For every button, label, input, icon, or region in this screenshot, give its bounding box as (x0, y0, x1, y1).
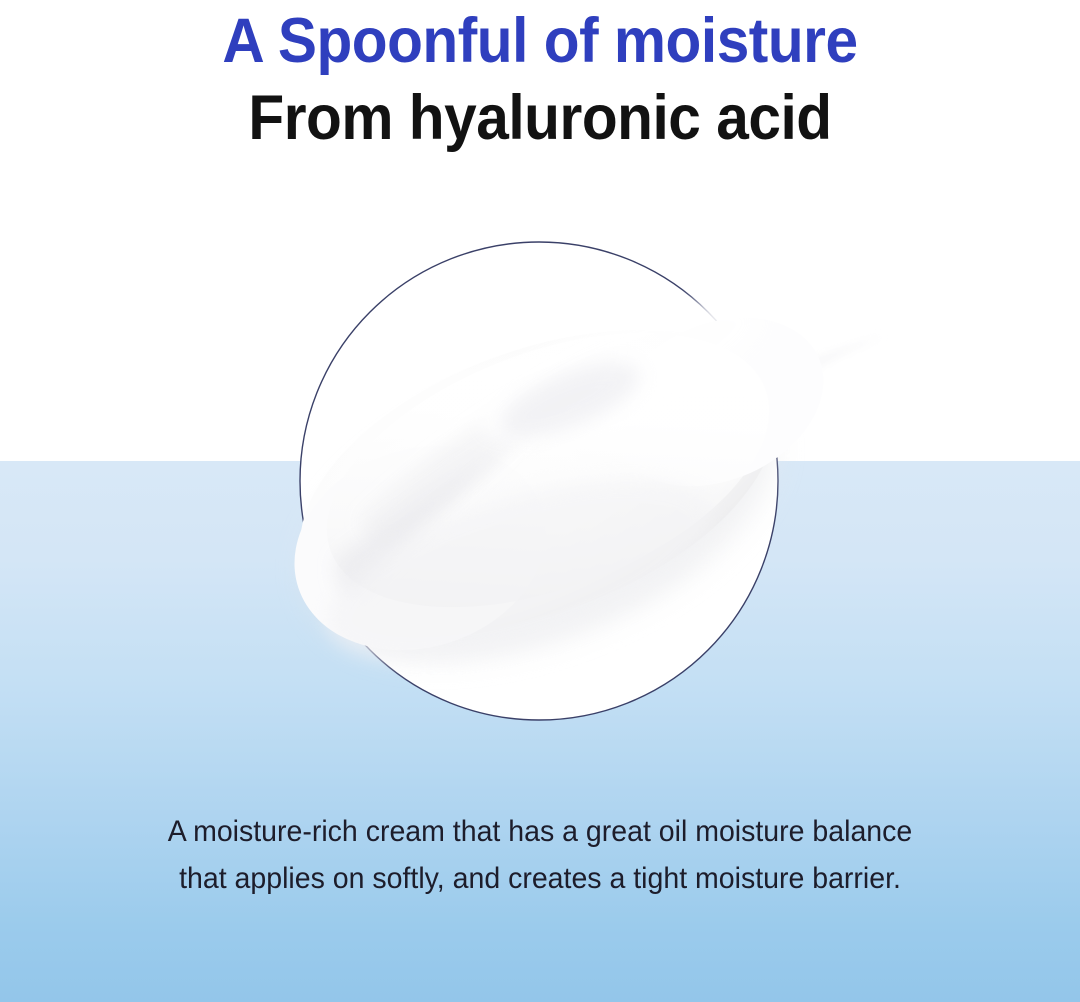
background-blue-gradient-band (0, 461, 1080, 1002)
product-banner: A Spoonful of moisture From hyaluronic a… (0, 0, 1080, 1002)
headline-block: A Spoonful of moisture From hyaluronic a… (0, 0, 1080, 150)
caption-line-2: that applies on softly, and creates a ti… (27, 855, 1053, 902)
caption-line-1: A moisture-rich cream that has a great o… (27, 808, 1053, 855)
headline-line-2: From hyaluronic acid (38, 73, 1042, 150)
caption-block: A moisture-rich cream that has a great o… (0, 808, 1080, 902)
headline-line-1: A Spoonful of moisture (38, 0, 1042, 73)
